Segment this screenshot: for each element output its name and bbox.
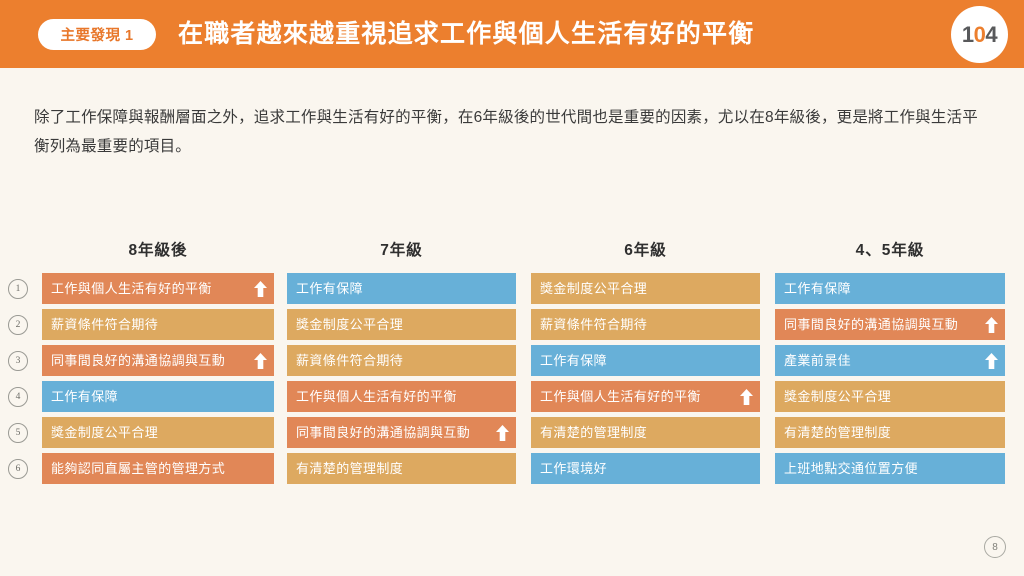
rank-number-badge: 2: [8, 315, 28, 335]
ranking-row[interactable]: 工作有保障: [531, 345, 760, 376]
up-arrow-icon: [254, 353, 267, 369]
ranking-row[interactable]: 工作環境好: [531, 453, 760, 484]
ranking-column: 7年級工作有保障獎金制度公平合理薪資條件符合期待工作與個人生活有好的平衡同事間良…: [287, 240, 516, 489]
column-header: 6年級: [531, 240, 760, 262]
ranking-row[interactable]: 同事間良好的溝通協調與互動: [287, 417, 516, 448]
page-number: 8: [984, 536, 1006, 558]
ranking-row[interactable]: 有清楚的管理制度: [531, 417, 760, 448]
ranking-row-label: 工作有保障: [287, 282, 363, 295]
ranking-row[interactable]: 工作與個人生活有好的平衡: [531, 381, 760, 412]
ranking-row-label: 有清楚的管理制度: [287, 462, 403, 475]
ranking-row-label: 工作與個人生活有好的平衡: [531, 390, 701, 403]
ranking-row[interactable]: 有清楚的管理制度: [775, 417, 1005, 448]
ranking-row-label: 工作與個人生活有好的平衡: [287, 390, 457, 403]
up-arrow-icon: [740, 389, 753, 405]
ranking-row[interactable]: 工作有保障: [287, 273, 516, 304]
ranking-row[interactable]: 上班地點交通位置方便: [775, 453, 1005, 484]
ranking-row[interactable]: 4工作有保障: [42, 381, 274, 412]
column-header: 7年級: [287, 240, 516, 262]
rank-number-badge: 5: [8, 423, 28, 443]
up-arrow-icon: [985, 317, 998, 333]
ranking-row-label: 工作與個人生活有好的平衡: [42, 282, 212, 295]
logo-digit-0: 0: [974, 22, 986, 47]
ranking-row-label: 工作環境好: [531, 462, 607, 475]
ranking-row[interactable]: 獎金制度公平合理: [287, 309, 516, 340]
up-arrow-icon: [985, 353, 998, 369]
ranking-row-label: 同事間良好的溝通協調與互動: [775, 318, 958, 331]
ranking-row[interactable]: 工作有保障: [775, 273, 1005, 304]
column-header: 4、5年級: [775, 240, 1005, 262]
ranking-row[interactable]: 5獎金制度公平合理: [42, 417, 274, 448]
ranking-row[interactable]: 有清楚的管理制度: [287, 453, 516, 484]
ranking-row-label: 能夠認同直屬主管的管理方式: [42, 462, 225, 475]
ranking-row-label: 上班地點交通位置方便: [775, 462, 918, 475]
column-rows: 1工作與個人生活有好的平衡2薪資條件符合期待3同事間良好的溝通協調與互動4工作有…: [42, 273, 274, 484]
rank-number-badge: 4: [8, 387, 28, 407]
column-rows: 工作有保障獎金制度公平合理薪資條件符合期待工作與個人生活有好的平衡同事間良好的溝…: [287, 273, 516, 484]
ranking-row[interactable]: 同事間良好的溝通協調與互動: [775, 309, 1005, 340]
header-bar: 主要發現 1 在職者越來越重視追求工作與個人生活有好的平衡 104: [0, 0, 1024, 68]
up-arrow-icon: [496, 425, 509, 441]
rank-number-badge: 1: [8, 279, 28, 299]
brand-logo-text: 104: [962, 22, 997, 48]
ranking-column: 4、5年級工作有保障同事間良好的溝通協調與互動產業前景佳獎金制度公平合理有清楚的…: [775, 240, 1005, 489]
ranking-column: 8年級後1工作與個人生活有好的平衡2薪資條件符合期待3同事間良好的溝通協調與互動…: [42, 240, 274, 489]
ranking-row[interactable]: 薪資條件符合期待: [287, 345, 516, 376]
up-arrow-icon: [254, 281, 267, 297]
ranking-row-label: 工作有保障: [42, 390, 118, 403]
logo-digit-1: 1: [962, 22, 974, 47]
column-header: 8年級後: [42, 240, 274, 262]
ranking-row-label: 薪資條件符合期待: [42, 318, 158, 331]
column-rows: 工作有保障同事間良好的溝通協調與互動產業前景佳獎金制度公平合理有清楚的管理制度上…: [775, 273, 1005, 484]
ranking-row[interactable]: 工作與個人生活有好的平衡: [287, 381, 516, 412]
logo-digit-4: 4: [985, 22, 997, 47]
brand-logo: 104: [951, 6, 1008, 63]
ranking-row-label: 獎金制度公平合理: [531, 282, 647, 295]
lead-paragraph: 除了工作保障與報酬層面之外，追求工作與生活有好的平衡，在6年級後的世代間也是重要…: [34, 104, 992, 161]
ranking-row-label: 有清楚的管理制度: [531, 426, 647, 439]
ranking-row[interactable]: 獎金制度公平合理: [531, 273, 760, 304]
ranking-row-label: 獎金制度公平合理: [775, 390, 891, 403]
finding-badge: 主要發現 1: [38, 19, 156, 50]
ranking-column: 6年級獎金制度公平合理薪資條件符合期待工作有保障工作與個人生活有好的平衡有清楚的…: [531, 240, 760, 489]
ranking-row[interactable]: 6能夠認同直屬主管的管理方式: [42, 453, 274, 484]
rank-number-badge: 3: [8, 351, 28, 371]
ranking-row[interactable]: 產業前景佳: [775, 345, 1005, 376]
ranking-row-label: 獎金制度公平合理: [287, 318, 403, 331]
ranking-row-label: 工作有保障: [775, 282, 851, 295]
column-rows: 獎金制度公平合理薪資條件符合期待工作有保障工作與個人生活有好的平衡有清楚的管理制…: [531, 273, 760, 484]
ranking-row-label: 產業前景佳: [775, 354, 851, 367]
ranking-row[interactable]: 3同事間良好的溝通協調與互動: [42, 345, 274, 376]
ranking-row-label: 有清楚的管理制度: [775, 426, 891, 439]
ranking-row-label: 同事間良好的溝通協調與互動: [287, 426, 470, 439]
ranking-row-label: 獎金制度公平合理: [42, 426, 158, 439]
ranking-row[interactable]: 獎金制度公平合理: [775, 381, 1005, 412]
page-title: 在職者越來越重視追求工作與個人生活有好的平衡: [178, 22, 754, 47]
ranking-row-label: 薪資條件符合期待: [531, 318, 647, 331]
ranking-row-label: 薪資條件符合期待: [287, 354, 403, 367]
ranking-row-label: 工作有保障: [531, 354, 607, 367]
ranking-row[interactable]: 2薪資條件符合期待: [42, 309, 274, 340]
ranking-row-label: 同事間良好的溝通協調與互動: [42, 354, 225, 367]
ranking-row[interactable]: 薪資條件符合期待: [531, 309, 760, 340]
ranking-row[interactable]: 1工作與個人生活有好的平衡: [42, 273, 274, 304]
rank-number-badge: 6: [8, 459, 28, 479]
